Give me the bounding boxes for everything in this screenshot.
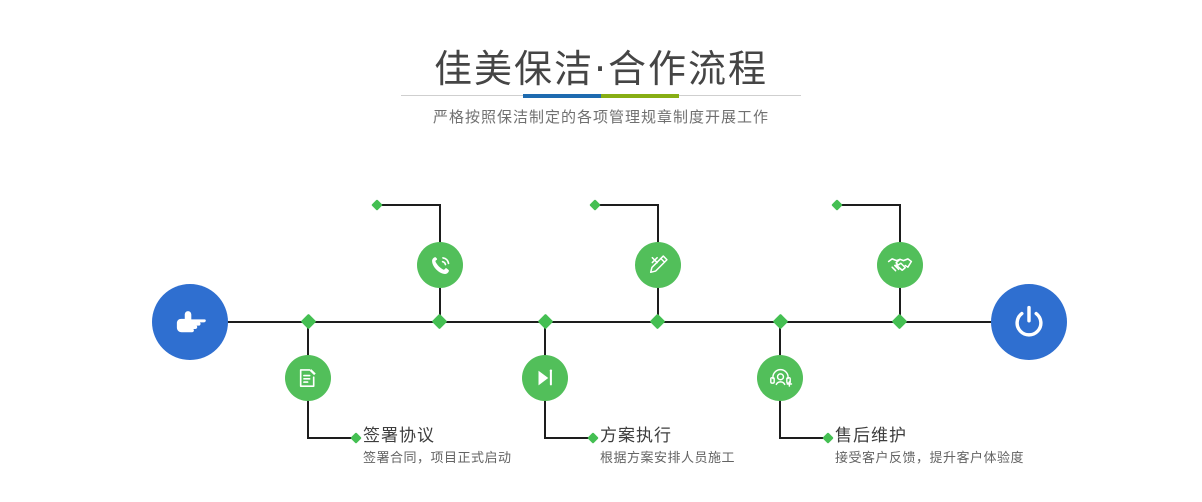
step-title-6: 售后维护 [835,426,1024,446]
step-desc-2: 签署合同，项目正式启动 [363,450,512,468]
play-execute-icon [532,365,558,391]
timeline-diamond-6 [773,314,789,330]
timeline-diamond-5 [892,314,908,330]
step-label-4: 方案执行 根据方案安排人员施工 [600,426,735,468]
label-diamond-6 [822,432,833,443]
timeline: 电话咨询 阐明基本情况和需求 [0,0,1202,502]
step-title-4: 方案执行 [600,426,735,446]
node-icon-circle-6[interactable] [757,355,803,401]
pointing-hand-icon [169,301,211,343]
node-icon-circle-2[interactable] [285,355,331,401]
timeline-end-endpoint [991,284,1067,360]
document-edit-icon [295,365,321,391]
timeline-start-endpoint [152,284,228,360]
phone-call-icon [427,252,454,279]
label-diamond-4 [587,432,598,443]
step-desc-6: 接受客户反馈，提升客户体验度 [835,450,1024,468]
label-diamond-3 [589,199,600,210]
timeline-diamond-4 [538,314,554,330]
connector-horizontal-3 [599,204,659,206]
node-icon-circle-3[interactable] [635,242,681,288]
step-desc-4: 根据方案安排人员施工 [600,450,735,468]
node-icon-circle-4[interactable] [522,355,568,401]
timeline-diamond-2 [301,314,317,330]
step-label-6: 售后维护 接受客户反馈，提升客户体验度 [835,426,1024,468]
step-title-2: 签署协议 [363,426,512,446]
node-icon-circle-1[interactable] [417,242,463,288]
flow-diagram-page: 佳美保洁·合作流程 严格按照保洁制定的各项管理规章制度开展工作 [0,0,1202,502]
power-icon [1009,302,1049,342]
timeline-diamond-3 [650,314,666,330]
connector-horizontal-1 [381,204,441,206]
timeline-diamond-1 [432,314,448,330]
connector-horizontal-5 [841,204,901,206]
customer-service-add-icon [767,365,794,392]
handshake-icon [886,251,914,279]
label-diamond-5 [831,199,842,210]
label-diamond-1 [371,199,382,210]
node-icon-circle-5[interactable] [877,242,923,288]
step-label-2: 签署协议 签署合同，项目正式启动 [363,426,512,468]
label-diamond-2 [350,432,361,443]
pencil-plan-icon [645,252,671,278]
